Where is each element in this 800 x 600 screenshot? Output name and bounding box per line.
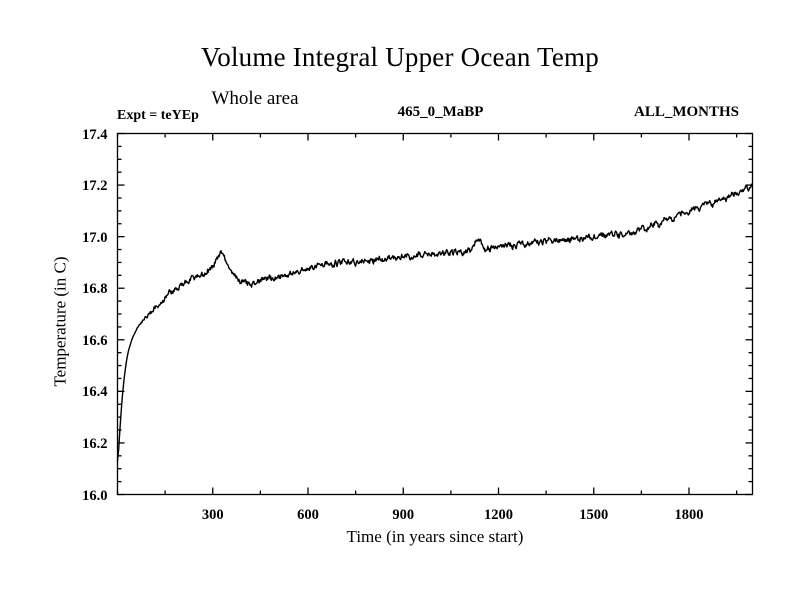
data-series-group <box>118 184 753 461</box>
plot-area <box>0 0 800 600</box>
chart-figure: Volume Integral Upper Ocean Temp Whole a… <box>0 0 800 600</box>
axes-frame <box>118 134 753 495</box>
